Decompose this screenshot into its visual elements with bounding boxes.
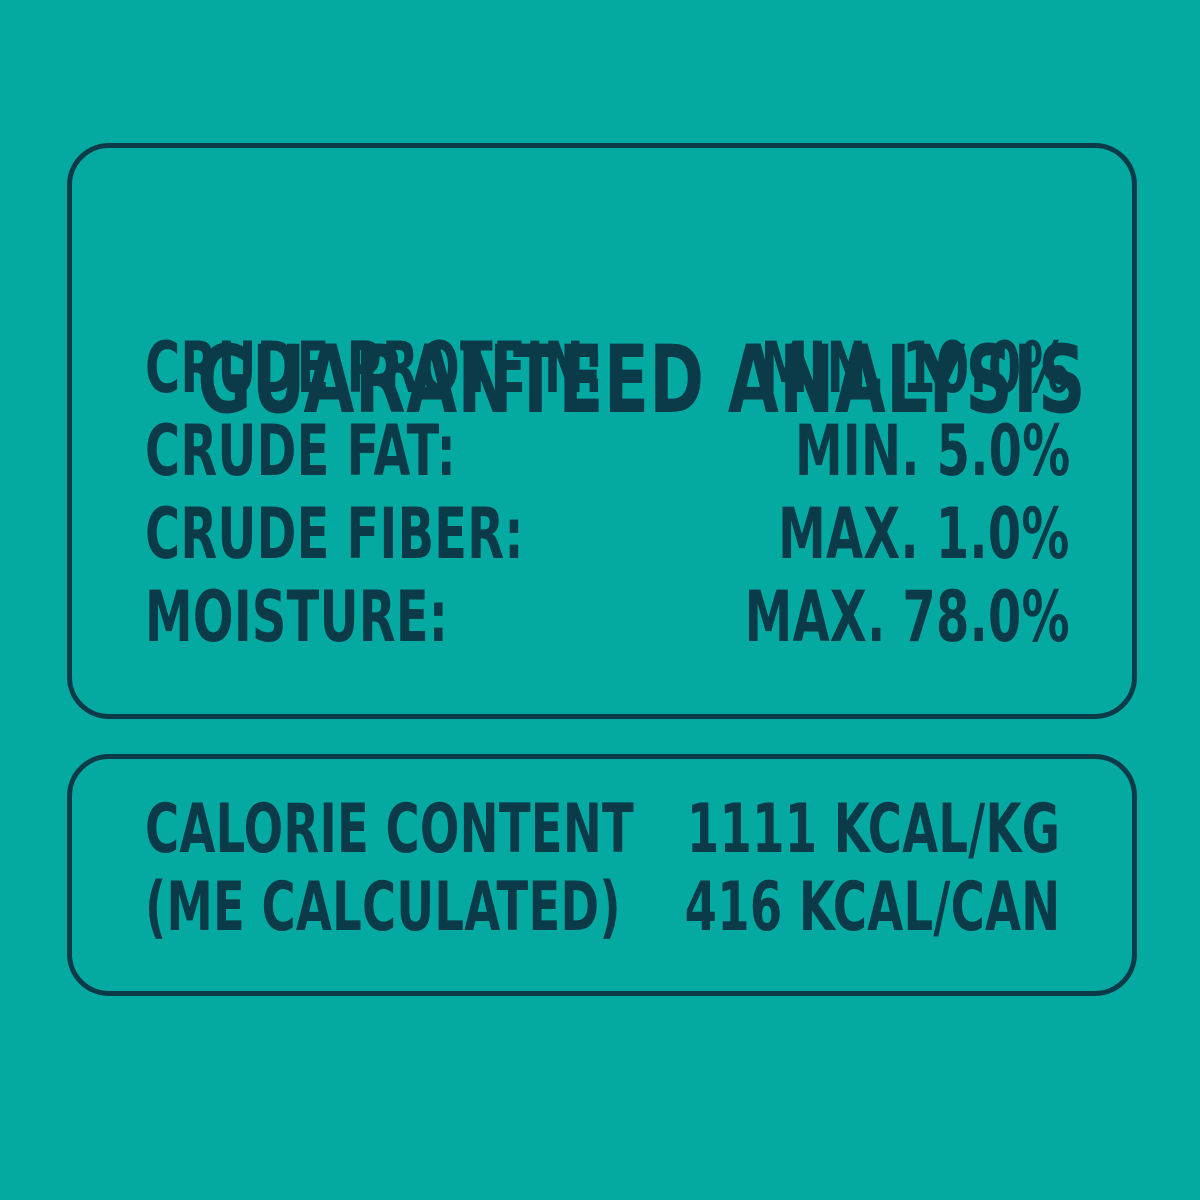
row-value-container: MAX. 1.0% — [686, 499, 1070, 569]
analysis-row-crude-fat: CRUDE FAT: MIN. 5.0% — [145, 416, 1070, 499]
analysis-rows-list: CRUDE PROTEIN: MIN. 10.0% CRUDE FAT: MIN… — [145, 333, 1070, 665]
row-value-container: MIN. 5.0% — [708, 416, 1070, 486]
nutrient-value: MIN. 5.0% — [795, 416, 1070, 486]
nutrient-label: MOISTURE: — [145, 582, 448, 652]
calorie-label-line-2-row: (ME CALCULATED) — [145, 869, 705, 947]
calorie-panel-box: CALORIE CONTENT (ME CALCULATED) 1111 KCA… — [67, 754, 1137, 996]
nutrient-label: CRUDE FAT: — [145, 416, 456, 486]
calorie-content-label: CALORIE CONTENT — [145, 796, 634, 864]
analysis-row-crude-protein: CRUDE PROTEIN: MIN. 10.0% — [145, 333, 1070, 416]
row-label-container: MOISTURE: — [145, 582, 544, 652]
nutrient-value: MAX. 78.0% — [745, 582, 1070, 652]
calorie-per-can-value: 416 KCAL/CAN — [684, 874, 1060, 942]
row-value-container: MAX. 78.0% — [642, 582, 1070, 652]
nutrient-label: CRUDE FIBER: — [145, 499, 524, 569]
nutrient-value: MIN. 10.0% — [761, 333, 1070, 403]
calorie-method-label: (ME CALCULATED) — [145, 874, 621, 942]
row-label-container: CRUDE PROTEIN: — [145, 333, 748, 403]
row-label-container: CRUDE FIBER: — [145, 499, 643, 569]
analysis-row-moisture: MOISTURE: MAX. 78.0% — [145, 582, 1070, 665]
calorie-value-container: 1111 KCAL/KG 416 KCAL/CAN — [640, 791, 1060, 947]
nutrient-label: CRUDE PROTEIN: — [145, 333, 604, 403]
guaranteed-analysis-label: GUARANTEED ANALYSIS CRUDE PROTEIN: MIN. … — [0, 0, 1200, 1200]
nutrient-value: MAX. 1.0% — [778, 499, 1070, 569]
analysis-row-crude-fiber: CRUDE FIBER: MAX. 1.0% — [145, 499, 1070, 582]
calorie-value-line-2-row: 416 KCAL/CAN — [640, 869, 1060, 947]
analysis-panel-box: GUARANTEED ANALYSIS CRUDE PROTEIN: MIN. … — [67, 143, 1137, 719]
calorie-label-container: CALORIE CONTENT (ME CALCULATED) — [145, 791, 705, 947]
calorie-value-line-1-row: 1111 KCAL/KG — [640, 791, 1060, 869]
row-value-container: MIN. 10.0% — [663, 333, 1070, 403]
row-label-container: CRUDE FAT: — [145, 416, 554, 486]
calorie-label-line-1-row: CALORIE CONTENT — [145, 791, 705, 869]
calorie-per-kg-value: 1111 KCAL/KG — [687, 796, 1060, 864]
